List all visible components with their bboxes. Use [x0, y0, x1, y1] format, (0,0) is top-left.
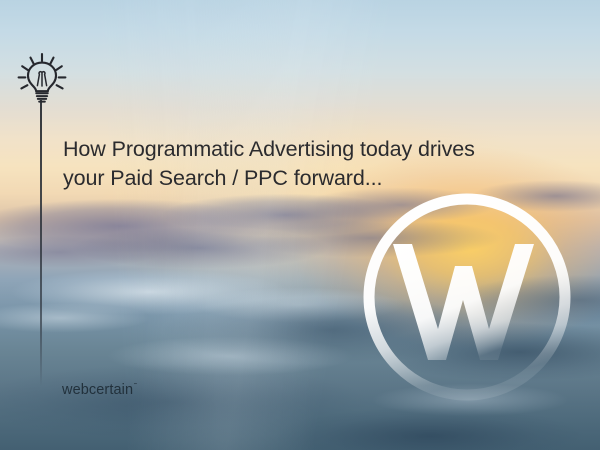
page-title: How Programmatic Advertising today drive…	[63, 135, 533, 193]
wordmark-text: webcertain	[62, 382, 133, 398]
webcertain-wordmark: webcertain ˜	[62, 382, 137, 398]
title-slide: How Programmatic Advertising today drive…	[0, 0, 600, 450]
trademark-icon: ˜	[134, 383, 137, 391]
lightbulb-icon	[14, 52, 70, 108]
lightbulb-stem-line	[40, 100, 42, 386]
webcertain-w-logo	[360, 190, 574, 404]
